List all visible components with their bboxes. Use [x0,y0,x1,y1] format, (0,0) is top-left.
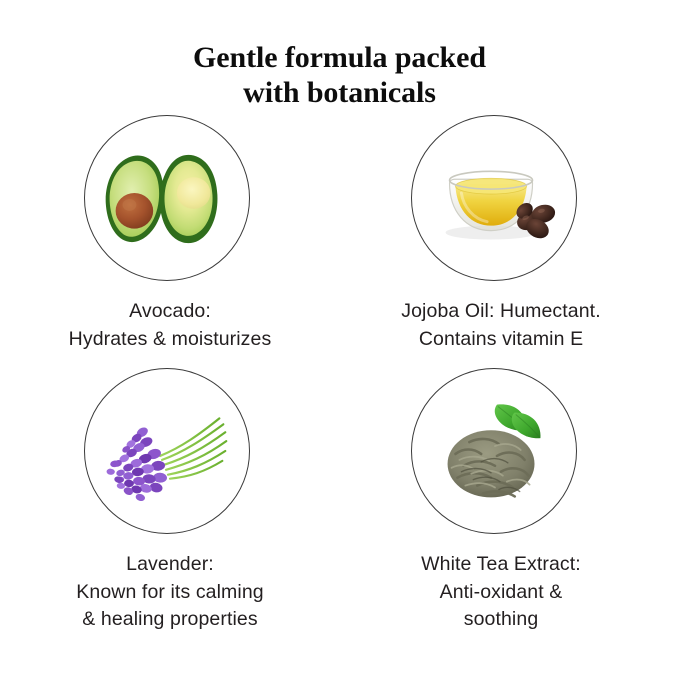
jojoba-circle-frame [411,115,577,281]
white-tea-circle-wrap [336,365,666,540]
jojoba-oil-bowl-icon [412,116,576,280]
lavender-bundle-icon [85,369,249,533]
lavender-caption-line-3: & healing properties [5,606,335,634]
white-tea-circle-frame [411,368,577,534]
page-title-line-2: with botanicals [0,75,679,110]
avocado-circle-wrap [5,112,335,287]
jojoba-caption: Jojoba Oil: Humectant. Contains vitamin … [336,298,666,353]
jojoba-circle-wrap [336,112,666,287]
page-title-line-1: Gentle formula packed [193,41,486,74]
avocado-caption-line-1: Avocado: [5,298,335,326]
jojoba-caption-line-2: Contains vitamin E [336,326,666,354]
ingredient-card-white-tea: White Tea Extract: Anti-oxidant & soothi… [336,365,666,634]
avocado-caption-line-2: Hydrates & moisturizes [5,326,335,354]
white-tea-leaves-icon [412,369,576,533]
avocado-half-left [106,156,164,243]
avocado-caption: Avocado: Hydrates & moisturizes [5,298,335,353]
avocado-halves-icon [85,116,249,280]
avocado-circle-frame [84,115,250,281]
page-title: Gentle formula packed with botanicals [0,40,679,110]
lavender-flowers [106,425,167,502]
white-tea-caption: White Tea Extract: Anti-oxidant & soothi… [336,551,666,634]
lavender-stems [160,418,226,478]
jojoba-caption-line-1: Jojoba Oil: Humectant. [336,298,666,326]
lavender-caption-line-2: Known for its calming [5,579,335,607]
avocado-half-right [160,155,218,243]
ingredient-infographic: Gentle formula packed with botanicals [0,0,679,679]
white-tea-caption-line-3: soothing [336,606,666,634]
lavender-caption-line-1: Lavender: [5,551,335,579]
white-tea-caption-line-1: White Tea Extract: [336,551,666,579]
lavender-caption: Lavender: Known for its calming & healin… [5,551,335,634]
lavender-circle-frame [84,368,250,534]
ingredient-card-jojoba-oil: Jojoba Oil: Humectant. Contains vitamin … [336,112,666,353]
white-tea-caption-line-2: Anti-oxidant & [336,579,666,607]
ingredient-card-avocado: Avocado: Hydrates & moisturizes [5,112,335,353]
ingredient-card-lavender: Lavender: Known for its calming & healin… [5,365,335,634]
lavender-circle-wrap [5,365,335,540]
